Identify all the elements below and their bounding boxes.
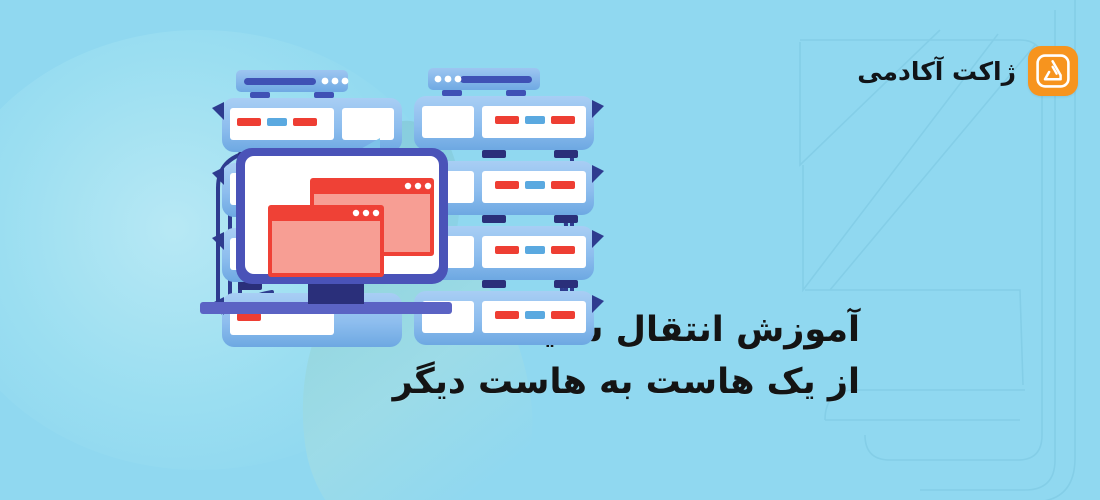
headline-line-2: از یک هاست به هاست دیگر (393, 357, 860, 409)
monitor (200, 148, 452, 314)
logo-brand-text: ژاکت آکادمی (857, 59, 1016, 84)
left-server-unit-4 (212, 293, 402, 347)
banner-root: ژاکت آکادمی آموزش انتقال سایت از یک هاست… (0, 0, 1100, 500)
right-server-unit-4 (414, 291, 604, 345)
brand-logo[interactable]: ژاکت آکادمی (857, 46, 1078, 96)
illustration-server-migration (180, 30, 600, 345)
left-rack-top-cap (236, 70, 348, 98)
right-rack-top-cap (428, 68, 540, 96)
right-server-unit-1 (414, 96, 604, 158)
logo-mark-icon (1028, 46, 1078, 96)
browser-window-front (268, 205, 384, 277)
